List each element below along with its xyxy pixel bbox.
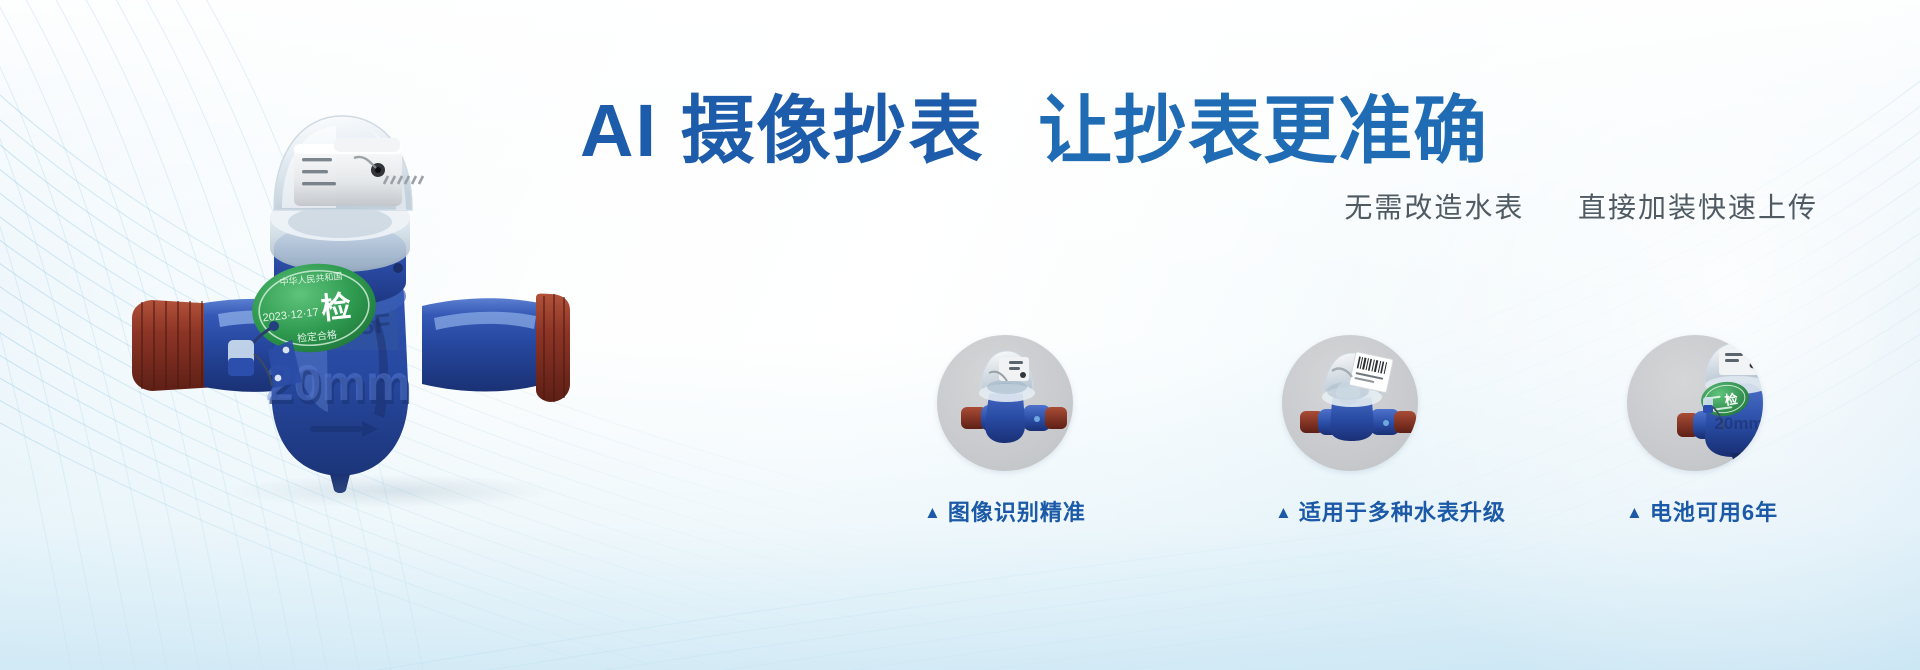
headline-lead: AI 摄像抄表 — [580, 89, 985, 172]
water-meter-label-thumb — [1282, 335, 1418, 471]
feature-item-image-recognition[interactable]: ▲图像识别精准 — [930, 335, 1080, 527]
feature-caption: ▲电池可用6年 — [1626, 495, 1770, 527]
promo-banner: 20mm 20mm N8F — [0, 0, 1920, 670]
feature-item-battery-life[interactable]: 检 20mm ▲电池可用6年 — [1620, 335, 1770, 527]
product-shadow — [228, 474, 558, 508]
water-meter-seal-thumb: 检 20mm — [1627, 335, 1763, 471]
triangle-marker-icon: ▲ — [1626, 503, 1644, 522]
headline-tail: 让抄表更准确 — [1038, 89, 1488, 172]
feature-caption: ▲适用于多种水表升级 — [1275, 495, 1425, 527]
feature-caption-text: 电池可用6年 — [1650, 500, 1778, 525]
svg-text:20mm: 20mm — [1714, 414, 1763, 433]
triangle-marker-icon: ▲ — [1275, 503, 1293, 522]
copy-block: AI 摄像抄表 让抄表更准确 无需改造水表 直接加装快速上传 — [580, 92, 1870, 226]
feature-caption-text: 图像识别精准 — [948, 500, 1086, 525]
subtitle-right: 直接加装快速上传 — [1578, 192, 1818, 223]
svg-text:检: 检 — [1724, 391, 1739, 408]
page-title: AI 摄像抄表 让抄表更准确 — [580, 92, 1870, 170]
feature-caption-text: 适用于多种水表升级 — [1299, 500, 1506, 525]
water-meter-front-thumb — [937, 335, 1073, 471]
feature-list: ▲图像识别精准 — [930, 335, 1770, 527]
triangle-marker-icon: ▲ — [924, 503, 942, 522]
seal-character: 检 — [319, 289, 352, 326]
subtitle: 无需改造水表 直接加装快速上传 — [580, 186, 1870, 226]
hero-product-image: 20mm 20mm N8F — [78, 82, 598, 502]
feature-item-meter-compatibility[interactable]: ▲适用于多种水表升级 — [1275, 335, 1425, 527]
water-meter-illustration: 20mm 20mm N8F — [78, 82, 598, 502]
subtitle-left: 无需改造水表 — [1344, 192, 1524, 223]
feature-caption: ▲图像识别精准 — [924, 495, 1080, 527]
